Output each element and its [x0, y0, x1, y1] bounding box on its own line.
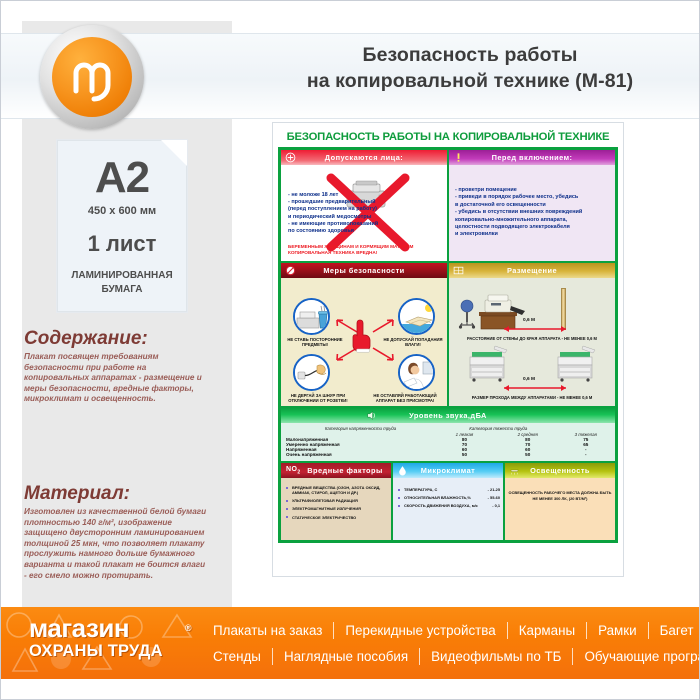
microclimate-list-item: СКОРОСТЬ ДВИЖЕНИЯ ВОЗДУХА, м/с- 0,1 — [397, 503, 500, 508]
sound-table-body: Малонапряженная808075Умеренно напряженна… — [286, 437, 610, 457]
gas-icon-label: NO — [286, 466, 297, 473]
panel-placement: Размещение — [449, 263, 615, 406]
footer-link-row1-4[interactable]: Рамки — [598, 623, 636, 638]
before-line-item: - убедись в отсутствии внешних поврежден… — [455, 209, 615, 216]
panel-sound-header: Уровень звука,дБА — [281, 408, 615, 423]
harmful-list-item: ЭЛЕКТРОМАГНИТНЫЕ ИЗЛУЧЕНИЯ — [285, 506, 388, 511]
before-list: - проветри помещение- приведи в порядок … — [455, 187, 615, 239]
footer-brand-line2: ОХРАНЫ ТРУДА — [29, 642, 189, 661]
panel-placement-body: 0,6 М РАССТОЯНИЕ ОТ СТЕНЫ ДО КРАЯ АППАРА… — [449, 278, 615, 406]
sheet-size-label: A2 — [58, 153, 186, 203]
safety-caption-2: НЕ ДОПУСКАЙ ПОПАДАНИЯ ВЛАГИ! — [382, 337, 444, 347]
page-root: Безопасность работы на копировальной тех… — [0, 0, 700, 700]
site-footer: магазин ® ОХРАНЫ ТРУДА Плакаты на заказП… — [1, 607, 699, 679]
panel-microclimate-header: Микроклимат — [393, 463, 503, 478]
panel-microclimate: Микроклимат ТЕМПЕРАТУРА, С- 21-25ОТНОСИТ… — [393, 463, 503, 540]
footer-link-row1-3[interactable]: Карманы — [519, 623, 575, 638]
panel-sound-title: Уровень звука,дБА — [409, 411, 487, 420]
footer-link-row2-3[interactable]: Видеофильмы по ТБ — [431, 649, 561, 664]
before-line-item: целостности подводящего электрокабеля — [455, 224, 615, 231]
dimension-arrow-1 — [501, 324, 569, 334]
lamp-icon — [509, 465, 520, 476]
footer-link-separator — [648, 622, 649, 639]
footer-link-row2-4[interactable]: Обучающие программы — [584, 649, 699, 664]
harmful-list-item: УЛЬТРАФИОЛЕТОВАЯ РАДИАЦИЯ — [285, 498, 388, 503]
panel-allowed: Допускаются лица: — [281, 150, 447, 261]
harmful-list-item: СТАТИЧЕСКОЕ ЭЛЕКТРИЧЕСТВО — [285, 515, 388, 520]
microclimate-list-item: ОТНОСИТЕЛЬНАЯ ВЛАЖНОСТЬ,%- 55-60 — [397, 495, 500, 500]
safety-circle-3 — [293, 354, 330, 391]
allowed-warning: БЕРЕМЕННЫМ ЖЕНЩИНАМ И КОРМЯЩИМ МАТЕРЯМ К… — [288, 244, 440, 256]
panel-before: Перед включением: - проветри помещение- … — [449, 150, 615, 261]
sound-row-value: 50 — [435, 452, 494, 457]
panel-harmful-header: NO2 Вредные факторы — [281, 463, 391, 478]
droplet-icon — [397, 465, 408, 476]
prohibition-icon — [285, 265, 296, 276]
speaker-icon — [366, 410, 377, 421]
microclimate-list: ТЕМПЕРАТУРА, С- 21-25ОТНОСИТЕЛЬНАЯ ВЛАЖН… — [397, 487, 500, 511]
plus-circle-icon — [285, 152, 296, 163]
footer-brand-word1: магазин — [29, 613, 129, 643]
panel-microclimate-body: ТЕМПЕРАТУРА, С- 21-25ОТНОСИТЕЛЬНАЯ ВЛАЖН… — [393, 478, 503, 540]
logo-disc-icon — [52, 37, 132, 117]
panel-microclimate-title: Микроклимат — [421, 466, 476, 475]
safety-caption-1: НЕ СТАВЬ ПОСТОРОННИЕ ПРЕДМЕТЫ! — [284, 337, 346, 347]
poster-row-middle: Меры безопасности — [281, 263, 615, 406]
panel-before-body: - проветри помещение- приведи в порядок … — [449, 165, 615, 261]
safety-circle-1 — [293, 298, 330, 335]
panel-lighting-header: Освещенность — [505, 463, 615, 478]
sheet-count-label: 1 лист — [58, 231, 186, 257]
page-title-line2: на копировальной технике (М-81) — [250, 68, 690, 94]
registered-mark-icon: ® — [185, 615, 191, 642]
poster-content: Допускаются лица: — [278, 147, 618, 543]
allowed-line-item: (перед поступлением на работу) — [288, 206, 438, 213]
panel-allowed-body: - не моложе 18 лет- прошедшие предварите… — [281, 165, 447, 261]
microclimate-item-value: - 0,1 — [488, 503, 500, 508]
microclimate-item-value: - 55-60 — [484, 495, 500, 500]
before-line-item: - приведи в порядок рабочее место, убеди… — [455, 194, 615, 201]
footer-brand[interactable]: магазин ® ОХРАНЫ ТРУДА — [29, 615, 189, 671]
panel-before-title: Перед включением: — [492, 153, 573, 162]
sheet-spec-card: A2 450 x 600 мм 1 лист ЛАМИНИРОВАННАЯ БУ… — [57, 140, 187, 312]
copier-unit-left — [465, 344, 511, 382]
sound-row-value: - — [562, 452, 610, 457]
content-text: Плакат посвящен требованиям безопасности… — [24, 352, 210, 405]
safety-circle-4 — [398, 354, 435, 391]
panel-placement-header: Размещение — [449, 263, 615, 278]
dimension-arrow-2 — [501, 383, 569, 393]
panel-harmful-body: ВРЕДНЫЕ ВЕЩЕСТВА (ОЗОН, АЗОТА ОКСИД, АММ… — [281, 478, 391, 540]
footer-link-separator — [333, 622, 334, 639]
dimension-label-2: 0,6 М — [523, 377, 535, 382]
footer-link-separator — [507, 622, 508, 639]
allowed-list: - не моложе 18 лет- прошедшие предварите… — [288, 192, 438, 235]
panel-safety-title: Меры безопасности — [323, 266, 404, 275]
placement-caption-2: РАЗМЕР ПРОХОДА МЕЖДУ АППАРАТАМИ - НЕ МЕН… — [449, 395, 615, 400]
microclimate-item-label: ТЕМПЕРАТУРА, С — [404, 487, 437, 492]
pointing-hand-icon — [349, 318, 377, 354]
microclimate-item-value: - 21-25 — [484, 487, 500, 492]
footer-link-row2-1[interactable]: Стенды — [213, 649, 261, 664]
copier-unit-right — [553, 344, 599, 382]
panel-allowed-title: Допускаются лица: — [325, 153, 403, 162]
panel-harmful-title: Вредные факторы — [289, 466, 382, 475]
table-row: Очень напряженная5050- — [286, 452, 610, 457]
panel-harmful: NO2 Вредные факторы ВРЕДНЫЕ ВЕЩЕСТВА (ОЗ… — [281, 463, 391, 540]
harmful-list: ВРЕДНЫЕ ВЕЩЕСТВА (ОЗОН, АЗОТА ОКСИД, АММ… — [285, 485, 388, 522]
sound-level-table: Категория напряженности труда Категория … — [286, 426, 610, 457]
before-line-item: и электровилки — [455, 231, 615, 238]
layout-icon — [453, 265, 464, 276]
panel-before-header: Перед включением: — [449, 150, 615, 165]
material-text: Изготовлен из качественной белой бумаги … — [24, 507, 210, 581]
panel-lighting-body: ОСВЕЩЕННОСТЬ РАБОЧЕГО МЕСТА ДОЛЖНА БЫТЬ … — [505, 478, 615, 540]
content-heading: Содержание: — [24, 328, 148, 350]
allowed-line-item: по состоянию здоровья — [288, 228, 438, 235]
panel-allowed-header: Допускаются лица: — [281, 150, 447, 165]
safety-caption-4: НЕ ОСТАВЛЯЙ РАБОТАЮЩИЙ АППАРАТ БЕЗ ПРИСМ… — [363, 393, 447, 403]
footer-link-separator — [272, 648, 273, 665]
footer-link-separator — [419, 648, 420, 665]
allowed-line-item: - не имеющие противопоказаний — [288, 221, 438, 228]
material-heading: Материал: — [24, 483, 130, 505]
poster-preview[interactable]: БЕЗОПАСНОСТЬ РАБОТЫ НА КОПИРОВАЛЬНОЙ ТЕХ… — [272, 122, 624, 577]
panel-lighting-title: Освещенность — [530, 466, 590, 475]
page-title-line1: Безопасность работы — [250, 42, 690, 68]
microclimate-list-item: ТЕМПЕРАТУРА, С- 21-25 — [397, 487, 500, 492]
footer-link-row1-5[interactable]: Багет — [660, 623, 694, 638]
poster-row-bottom: NO2 Вредные факторы ВРЕДНЫЕ ВЕЩЕСТВА (ОЗ… — [281, 463, 615, 540]
page-title: Безопасность работы на копировальной тех… — [250, 42, 690, 94]
panel-safety-body: НЕ СТАВЬ ПОСТОРОННИЕ ПРЕДМЕТЫ! — [281, 278, 447, 406]
exclamation-icon — [453, 152, 464, 163]
safety-circle-2 — [398, 298, 435, 335]
gas-icon: NO2 — [286, 466, 301, 475]
sound-table-head: Категория напряженности труда Категория … — [286, 426, 610, 437]
lighting-text: ОСВЕЩЕННОСТЬ РАБОЧЕГО МЕСТА ДОЛЖНА БЫТЬ … — [508, 490, 612, 501]
panel-sound-body: Категория напряженности труда Категория … — [281, 423, 615, 461]
footer-nav-row-1: Плакаты на заказПерекидные устройстваКар… — [213, 617, 693, 643]
gas-icon-sub: 2 — [297, 470, 300, 476]
safety-caption-3: НЕ ДЕРГАЙ ЗА ШНУР ПРИ ОТКЛЮЧЕНИИ ОТ РОЗЕ… — [281, 393, 355, 403]
sound-row-value: 50 — [494, 452, 562, 457]
poster-row-top: Допускаются лица: — [281, 150, 615, 261]
footer-link-row2-2[interactable]: Наглядные пособия — [284, 649, 408, 664]
harmful-list-item: ВРЕДНЫЕ ВЕЩЕСТВА (ОЗОН, АЗОТА ОКСИД, АММ… — [285, 485, 388, 495]
microclimate-item-label: СКОРОСТЬ ДВИЖЕНИЯ ВОЗДУХА, м/с — [404, 503, 478, 508]
panel-safety: Меры безопасности — [281, 263, 447, 406]
before-line-item: копировально-множительного аппарата, — [455, 217, 615, 224]
footer-link-separator — [586, 622, 587, 639]
panel-safety-header: Меры безопасности — [281, 263, 447, 278]
footer-link-row1-2[interactable]: Перекидные устройства — [345, 623, 495, 638]
sound-row-label: Очень напряженная — [286, 452, 435, 457]
panel-placement-title: Размещение — [507, 266, 557, 275]
footer-link-separator — [572, 648, 573, 665]
footer-nav-row-2: СтендыНаглядные пособияВидеофильмы по ТБ… — [213, 643, 693, 669]
footer-link-row1-1[interactable]: Плакаты на заказ — [213, 623, 322, 638]
poster-title: БЕЗОПАСНОСТЬ РАБОТЫ НА КОПИРОВАЛЬНОЙ ТЕХ… — [278, 131, 618, 143]
footer-nav: Плакаты на заказПерекидные устройстваКар… — [213, 617, 693, 669]
sheet-dimensions: 450 x 600 мм — [58, 205, 186, 217]
panel-sound: Уровень звука,дБА Категория напряженност… — [281, 408, 615, 461]
dimension-label-1: 0,6 М — [523, 318, 535, 323]
brand-logo[interactable] — [40, 25, 144, 129]
footer-brand-line1: магазин ® — [29, 615, 189, 642]
placement-caption-1: РАССТОЯНИЕ ОТ СТЕНЫ ДО КРАЯ АППАРАТА - Н… — [449, 336, 615, 341]
sheet-material-label: ЛАМИНИРОВАННАЯ БУМАГА — [58, 269, 186, 297]
microclimate-item-label: ОТНОСИТЕЛЬНАЯ ВЛАЖНОСТЬ,% — [404, 495, 471, 500]
panel-lighting: Освещенность ОСВЕЩЕННОСТЬ РАБОЧЕГО МЕСТА… — [505, 463, 615, 540]
allowed-line-item: и периодический медосмотры — [288, 214, 438, 221]
